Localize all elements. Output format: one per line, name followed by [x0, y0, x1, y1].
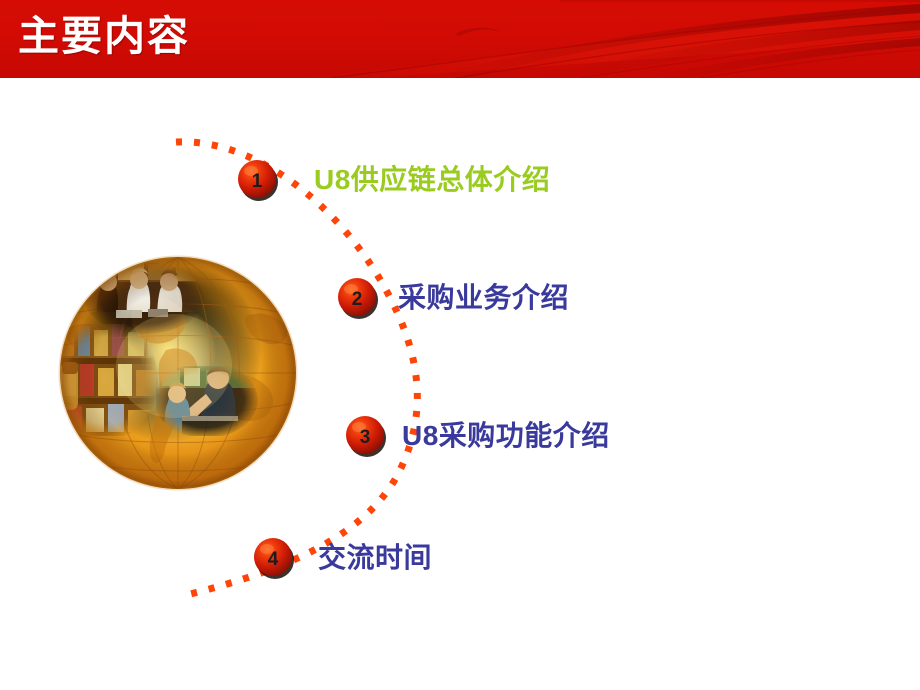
bullet-number-4-icon: 4	[252, 536, 296, 580]
bullet-number-2-icon: 2	[336, 276, 380, 320]
agenda-label-2: 采购业务介绍	[398, 278, 569, 318]
page-title: 主要内容	[18, 11, 190, 61]
agenda-label-4: 交流时间	[318, 538, 432, 578]
bullet-number-text: 3	[360, 427, 371, 448]
bullet-number-text: 2	[352, 289, 363, 310]
header-banner: 主要内容	[0, 0, 920, 78]
globe-image	[56, 254, 300, 492]
bullet-number-text: 4	[268, 549, 279, 570]
globe-graphic	[56, 254, 300, 492]
bullet-number-3-icon: 3	[344, 414, 388, 458]
bullet-number-text: 1	[252, 171, 263, 192]
slide-canvas: 主要内容	[0, 0, 920, 690]
agenda-label-1: U8供应链总体介绍	[314, 160, 550, 200]
agenda-label-3: U8采购功能介绍	[402, 416, 610, 456]
bullet-number-1-icon: 1	[236, 158, 280, 202]
